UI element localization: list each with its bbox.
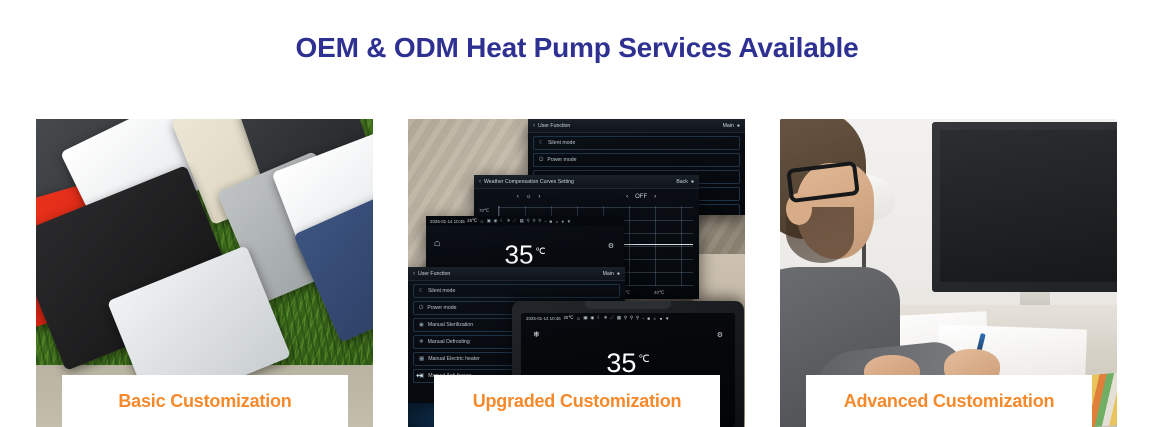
panel-right-label: Back (676, 179, 688, 185)
panel-title-bar: ‹ User Function Main ● (528, 119, 745, 133)
power-icon: ⏻ (419, 305, 423, 312)
heater-icon: ▦ (419, 356, 424, 362)
power-icon: ⏻ (539, 157, 543, 164)
list-item-label: Silent mode (548, 140, 575, 146)
heater-icon: ▦ (617, 315, 621, 321)
lock-icon: ● (561, 219, 564, 224)
panel-title-bar: ‹ Weather Compensation Curves Setting Ba… (474, 175, 699, 189)
home-icon: ● (737, 123, 740, 129)
snowflake-icon: ❄ (507, 218, 511, 224)
fan-icon: ⚙ (717, 331, 723, 339)
sun-icon: ☼ (653, 316, 657, 321)
back-chevron-icon: ‹ (413, 271, 415, 277)
monitor (932, 122, 1117, 292)
pump-icon: ⚲ (624, 315, 627, 321)
panel-title: User Function (538, 123, 570, 129)
moon-icon: ☾ (500, 218, 504, 224)
page-title: OEM & ODM Heat Pump Services Available (0, 32, 1154, 64)
list-item-label: Silent mode (428, 288, 455, 294)
home-icon: ● (617, 271, 620, 277)
mode-selector[interactable]: ‹ ☼ › (517, 194, 541, 200)
prev-chevron-icon[interactable]: ‹ (626, 194, 628, 200)
tablet-notch (585, 301, 671, 309)
list-item-label: Manual Electric heater (428, 356, 480, 362)
person-icon: ☺ (576, 316, 580, 321)
card-label-text: Basic Customization (118, 391, 291, 412)
battery-icon: ■ (647, 316, 650, 321)
pump-icon: ⚲ (538, 218, 541, 224)
next-chevron-icon[interactable]: › (654, 194, 656, 200)
panel-title: Weather Compensation Curves Setting (484, 179, 574, 185)
list-item-label: Manual Sterilization (428, 322, 473, 328)
list-item-label: Power mode (547, 157, 576, 163)
pump-icon: ⚲ (532, 218, 535, 224)
status-datetime: 2025-01-14 10:45 (430, 219, 465, 224)
temp-number: 35 (606, 348, 636, 378)
back-chevron-icon: ‹ (533, 123, 535, 129)
sterilize-icon: ◉ (419, 322, 424, 328)
pump-icon: ⚲ (630, 315, 633, 321)
sun-icon: ☼ (526, 194, 532, 200)
minus-icon: − (642, 316, 645, 321)
status-bar: 2025-01-14 10:45 25℃ ☺ ▣ ◉ ☾ ❄ ☄ ▦ ⚲ ⚲ ⚲… (521, 313, 735, 323)
next-chevron-icon[interactable]: › (538, 194, 540, 200)
heater-icon: ▦ (520, 218, 524, 224)
card-label-text: Upgraded Customization (473, 391, 682, 412)
home-icon: ● (691, 179, 694, 185)
temp-unit: ℃ (638, 354, 649, 365)
back-chevron-icon: ‹ (479, 179, 481, 185)
list-item-label: Power mode (427, 305, 456, 311)
temp-value: 35℃ (521, 346, 735, 377)
minus-icon: − (544, 219, 547, 224)
status-datetime: 2025-01-14 10:45 (526, 316, 561, 321)
curve-state-value: OFF (635, 194, 647, 200)
list-item[interactable]: ⏻ Power mode (533, 153, 740, 167)
panel-right-label: Main (603, 271, 614, 277)
moon-icon: ☾ (539, 140, 544, 146)
x-axis-label: 40℃ (654, 290, 664, 296)
prev-chevron-icon[interactable]: ‹ (517, 194, 519, 200)
temp-value: 35℃ (426, 238, 624, 268)
y-axis-label: 70℃ (479, 208, 489, 214)
temp-number: 35 (504, 240, 533, 270)
calendar-icon: ▣ (583, 315, 587, 321)
snowflake-icon: ❄ (604, 315, 608, 321)
defrost-icon: ☄ (610, 315, 614, 321)
lock-icon: ● (660, 316, 663, 321)
curve-selectors: ‹ ☼ › ‹ OFF › (474, 189, 699, 204)
status-bar: 2025-01-14 10:45 25℃ ☺ ▣ ◉ ☾ ❄ ☄ ▦ ⚲ ⚲ ⚲… (426, 216, 624, 226)
temp-unit: ℃ (535, 246, 545, 256)
wifi-icon: ▼ (665, 316, 669, 321)
card-label-basic: Basic Customization (62, 375, 348, 427)
pump-icon: ⚲ (636, 315, 639, 321)
person-icon: ☺ (480, 219, 485, 224)
panel-title-bar: ‹ User Function Main ● (408, 267, 625, 281)
clock-icon: ◉ (494, 218, 498, 224)
card-label-text: Advanced Customization (844, 391, 1055, 412)
list-item[interactable]: ☾ Silent mode (533, 136, 740, 150)
service-card-basic[interactable]: Basic Customization (36, 119, 373, 427)
defrost-icon: ☄ (513, 218, 517, 224)
list-item[interactable]: ☾ Silent mode (413, 284, 620, 298)
exit-icon[interactable]: ↤ (416, 371, 423, 380)
status-outdoor-temp: 25℃ (467, 218, 477, 224)
service-card-advanced[interactable]: Advanced Customization (780, 119, 1117, 427)
card-label-upgraded: Upgraded Customization (434, 375, 720, 427)
calendar-icon: ▣ (487, 218, 491, 224)
sun-icon: ☼ (555, 219, 559, 224)
snowflake-icon: ❄ (533, 330, 540, 339)
curve-state-selector[interactable]: ‹ OFF › (626, 194, 656, 200)
panel-title: User Function (418, 271, 450, 277)
service-cards: Basic Customization ‹ User Function Main… (0, 119, 1154, 427)
moon-icon: ☾ (597, 315, 601, 321)
defrost-icon: ❄ (419, 339, 424, 345)
clock-icon: ◉ (590, 315, 594, 321)
moon-icon: ☾ (419, 288, 424, 294)
wifi-icon: ▼ (567, 219, 572, 224)
status-outdoor-temp: 25℃ (563, 315, 573, 321)
list-item-label: Manual Defrosting (428, 339, 470, 345)
pump-icon: ⚲ (527, 218, 530, 224)
battery-icon: ■ (549, 219, 552, 224)
card-label-advanced: Advanced Customization (806, 375, 1092, 427)
panel-right-label: Main (723, 123, 734, 129)
service-card-upgraded[interactable]: ‹ User Function Main ● ☾ Silent mode ⏻ P… (408, 119, 745, 427)
